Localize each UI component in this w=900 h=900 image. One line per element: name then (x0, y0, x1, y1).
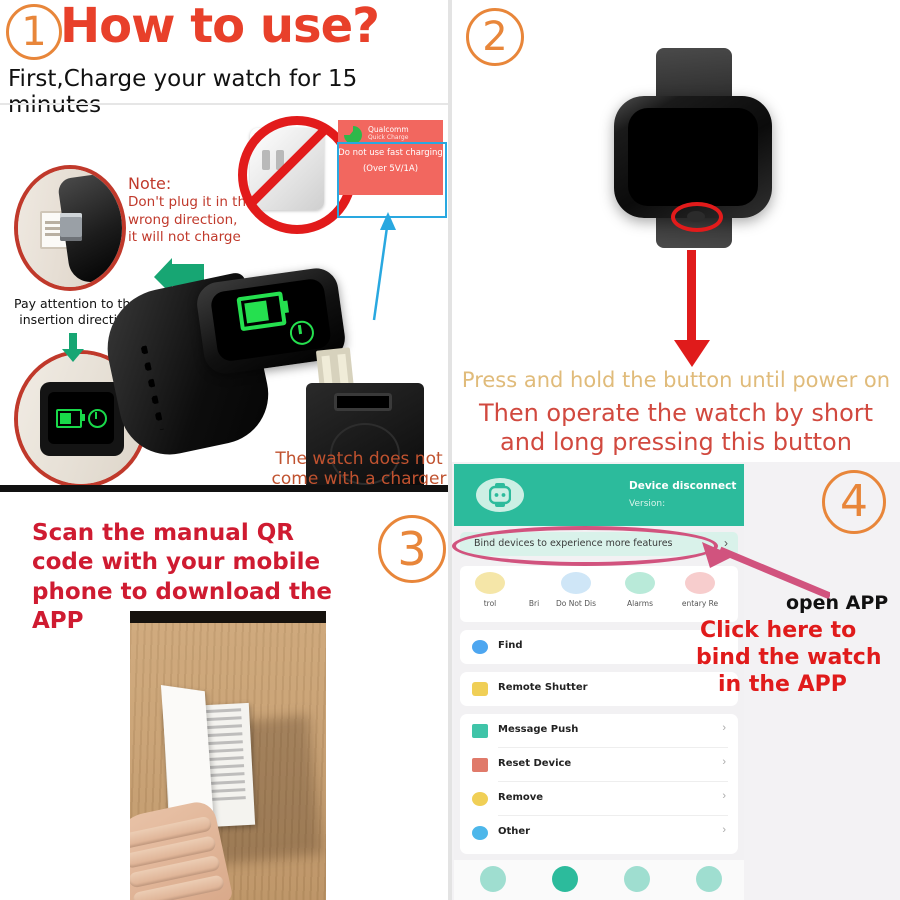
note-line-3: it will not charge (128, 229, 254, 246)
blue-highlight-box (337, 142, 447, 218)
panel-step-2: 2 Press and hold the button until power … (452, 0, 900, 460)
watch-screen (48, 392, 114, 444)
table-edge (130, 611, 326, 623)
remote-shutter-card: Remote Shutter (460, 672, 738, 706)
list-item[interactable]: Remote Shutter (460, 672, 738, 706)
more-icon (472, 826, 488, 840)
qualcomm-brand: Qualcomm (368, 125, 409, 134)
watch-front-photo (604, 48, 780, 248)
step-badge-3: 3 (378, 515, 446, 583)
panel2-line-1: Press and hold the button until power on (452, 368, 900, 392)
button-highlight-ring (671, 202, 723, 232)
step-badge-1: 1 (6, 4, 62, 60)
settings-card: Message Push › Reset Device › Remove › (460, 714, 738, 854)
brightness-icon (475, 572, 505, 594)
manual-photo (130, 611, 326, 900)
menu-label-other: Other (498, 826, 530, 837)
quick-action-label-3: Alarms (612, 599, 668, 608)
watch-body (40, 382, 124, 456)
panel-step-1: 1 How to use? First,Charge your watch fo… (0, 0, 448, 492)
page-title: How to use? (60, 0, 379, 54)
power-button (687, 211, 705, 222)
chevron-right-icon: › (722, 790, 726, 802)
menu-label-remove: Remove (498, 792, 543, 803)
menu-label-find: Find (498, 640, 523, 651)
quick-action-2[interactable]: Do Not Dis (548, 572, 604, 608)
camera-icon (472, 682, 488, 696)
panel-divider-horizontal (452, 456, 900, 462)
menu-label-remote-shutter: Remote Shutter (498, 682, 588, 693)
panel3-line-1: Scan the manual QR (32, 519, 382, 548)
annotation-open-app: open APP (786, 592, 888, 614)
step-badge-4: 4 (822, 470, 886, 534)
usb-contact (60, 213, 82, 241)
unlink-icon (472, 792, 488, 806)
bottom-tab-bar (454, 860, 744, 900)
menu-label-message-push: Message Push (498, 724, 578, 735)
divider (0, 103, 448, 105)
reset-icon (472, 758, 488, 772)
chevron-right-icon: › (722, 722, 726, 734)
no-charger-line-1: The watch does not (270, 450, 448, 470)
quick-charge-sub: Quick Charge (368, 134, 408, 141)
panel-divider-vertical (448, 0, 452, 900)
quick-action-label-4: entary Re (672, 599, 728, 608)
tab-device[interactable] (552, 866, 578, 892)
battery-icon (56, 409, 82, 428)
no-charger-included-note: The watch does not come with a charger (270, 450, 448, 489)
usb-insertion-photo (14, 165, 126, 291)
pink-pointer-arrow-icon (680, 540, 830, 600)
table-row[interactable]: Other › (460, 816, 738, 850)
watch-display (628, 108, 758, 206)
no-charger-line-2: come with a charger (270, 470, 448, 490)
chevron-right-icon: › (722, 756, 726, 768)
no-fast-charger-icon (236, 116, 344, 222)
watch-screen-large (210, 277, 333, 362)
menu-label-reset-device: Reset Device (498, 758, 571, 769)
step-badge-2: 2 (466, 8, 524, 66)
device-status-label: Device disconnect (629, 480, 736, 492)
annotation-click-line-1: Click here to (700, 618, 856, 643)
quick-action-3[interactable]: Alarms (612, 572, 668, 608)
annotation-click-line-3: in the APP (718, 672, 847, 697)
version-label: Version: (629, 499, 665, 509)
panel1-subtitle: First,Charge your watch for 15 minutes (8, 66, 448, 118)
tab-home[interactable] (480, 866, 506, 892)
quick-action-label-2: Do Not Dis (548, 599, 604, 608)
arrow-down-green-icon (60, 333, 86, 368)
battery-icon-large (236, 291, 286, 331)
table-row[interactable]: Remove › (460, 782, 738, 816)
search-icon (472, 640, 488, 654)
watch-avatar-icon (476, 478, 524, 512)
panel3-line-2: code with your mobile (32, 548, 382, 577)
chevron-right-icon: › (722, 824, 726, 836)
table-row[interactable]: Reset Device › (460, 748, 738, 782)
alarms-icon (625, 572, 655, 594)
tab-data[interactable] (624, 866, 650, 892)
annotation-click-line-2: bind the watch (696, 645, 882, 670)
arrow-down-red-icon (671, 250, 713, 368)
panel2-line-3: and long pressing this button (452, 428, 900, 456)
watch-case-front (614, 96, 772, 218)
app-header: Device disconnect Version: (454, 464, 744, 526)
power-icon-large (288, 319, 315, 346)
panel-step-3: 3 Scan the manual QR code with your mobi… (0, 499, 448, 900)
do-not-disturb-icon (561, 572, 591, 594)
tab-profile[interactable] (696, 866, 722, 892)
power-icon (88, 409, 107, 428)
instruction-infographic: 1 How to use? First,Charge your watch fo… (0, 0, 900, 900)
dock-slot (334, 393, 392, 411)
table-row[interactable]: Message Push › (460, 714, 738, 748)
panel2-line-2: Then operate the watch by short (452, 399, 900, 427)
send-icon (472, 724, 488, 738)
pink-highlight-oval (452, 526, 718, 566)
